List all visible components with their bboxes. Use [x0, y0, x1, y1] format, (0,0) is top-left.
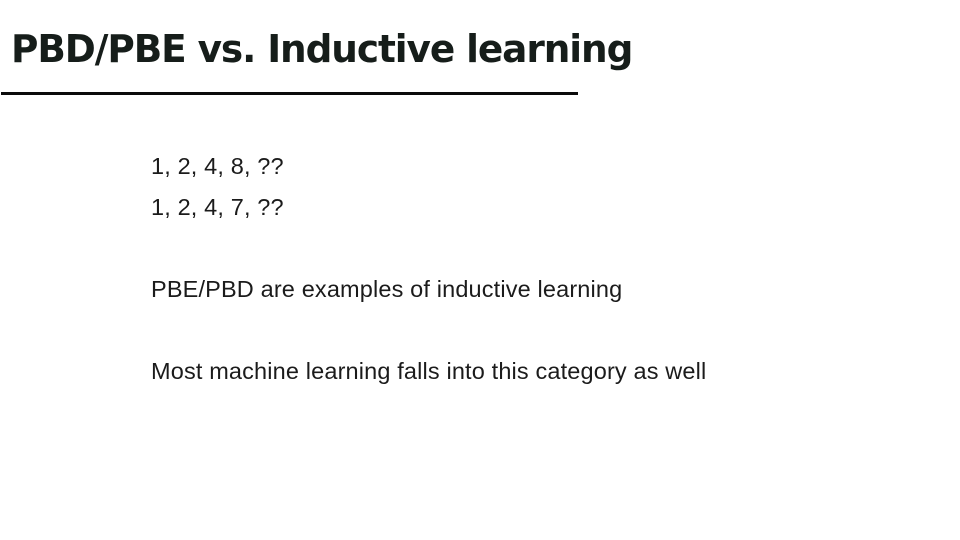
- body-line-sequence-alternate: 1, 2, 4, 7, ??: [151, 187, 911, 228]
- title-divider: [1, 92, 578, 95]
- body-line-machine-learning-category: Most machine learning falls into this ca…: [151, 351, 911, 392]
- slide-body: 1, 2, 4, 8, ?? 1, 2, 4, 7, ?? PBE/PBD ar…: [151, 146, 911, 392]
- slide: PBD/PBE vs. Inductive learning 1, 2, 4, …: [0, 0, 960, 540]
- body-line-sequence-powers-of-two: 1, 2, 4, 8, ??: [151, 146, 911, 187]
- body-spacer: [151, 310, 911, 351]
- body-line-pbe-pbd-inductive: PBE/PBD are examples of inductive learni…: [151, 269, 911, 310]
- body-spacer: [151, 228, 911, 269]
- page-title: PBD/PBE vs. Inductive learning: [11, 25, 632, 73]
